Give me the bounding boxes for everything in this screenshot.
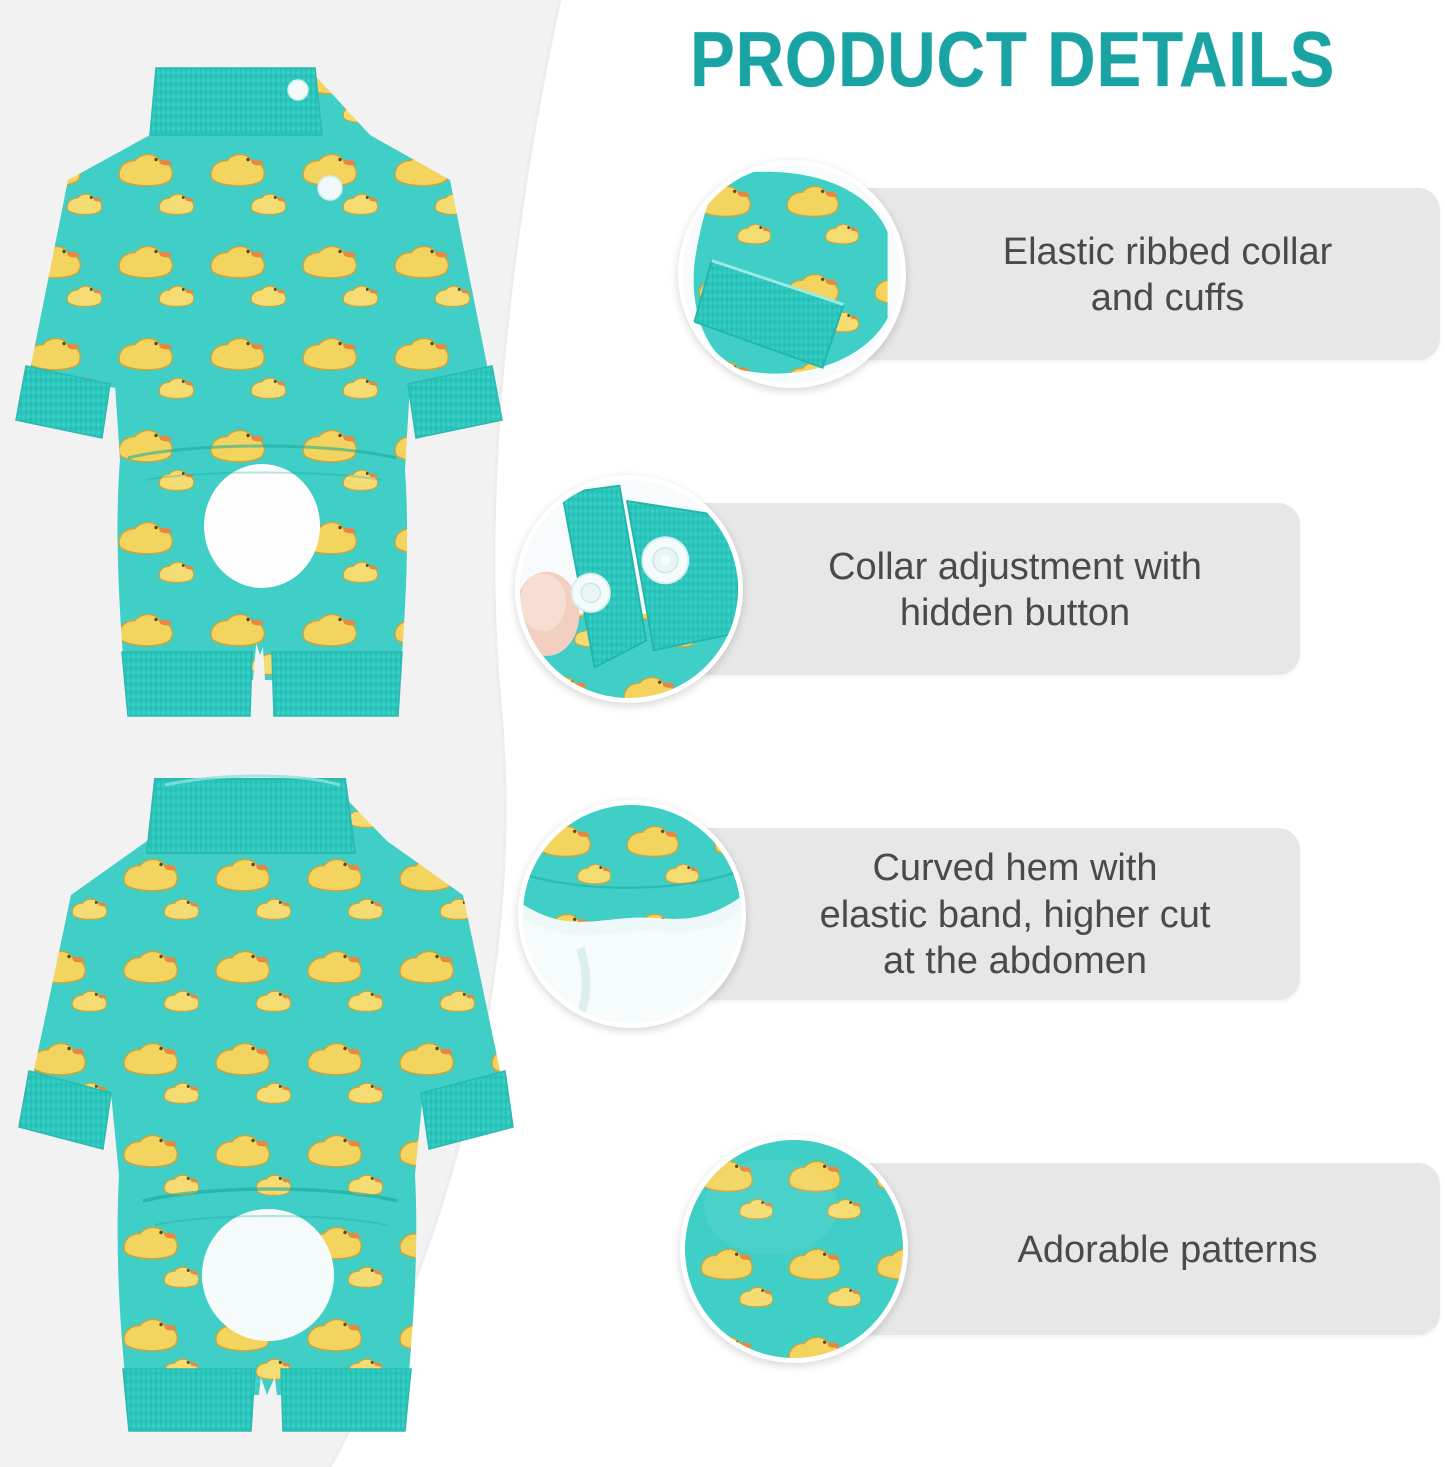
- feature-line: Curved hem with: [872, 847, 1157, 889]
- feature-line: at the abdomen: [883, 940, 1147, 982]
- feature-label-adorable-patterns: Adorable patterns: [895, 1135, 1440, 1365]
- feature-line: Elastic ribbed collar: [1003, 231, 1332, 273]
- infographic-canvas: PRODUCT DETAILS Elastic ribbed collar an…: [0, 0, 1445, 1467]
- feature-image-elastic-ribbed-collar-and-cuffs: [678, 160, 906, 388]
- product-photo-back-view: [10, 40, 510, 720]
- feature-image-adorable-patterns: [680, 1135, 908, 1363]
- feature-line: Collar adjustment with: [828, 546, 1202, 588]
- feature-row-adorable-patterns: Adorable patterns: [500, 1135, 1445, 1365]
- details-column: PRODUCT DETAILS Elastic ribbed collar an…: [500, 0, 1445, 1467]
- feature-row-curved-hem-with-elastic-band: Curved hem with elastic band, higher cut…: [500, 800, 1445, 1030]
- product-photo-front-view: [15, 745, 515, 1435]
- feature-line: hidden button: [900, 592, 1130, 634]
- feature-label-elastic-ribbed-collar-and-cuffs: Elastic ribbed collar and cuffs: [895, 160, 1440, 390]
- feature-line: elastic band, higher cut: [820, 894, 1211, 936]
- feature-image-curved-hem-with-elastic-band: [518, 800, 746, 1028]
- feature-label-curved-hem-with-elastic-band: Curved hem with elastic band, higher cut…: [735, 800, 1295, 1030]
- feature-line: and cuffs: [1091, 277, 1245, 319]
- feature-row-collar-adjustment-with-hidden-button: Collar adjustment with hidden button: [500, 475, 1445, 705]
- feature-line: Adorable patterns: [1018, 1227, 1318, 1273]
- feature-row-elastic-ribbed-collar-and-cuffs: Elastic ribbed collar and cuffs: [500, 160, 1445, 390]
- page-title: PRODUCT DETAILS: [690, 20, 1339, 98]
- feature-image-collar-adjustment-with-hidden-button: [515, 475, 743, 703]
- feature-label-collar-adjustment-with-hidden-button: Collar adjustment with hidden button: [735, 475, 1295, 705]
